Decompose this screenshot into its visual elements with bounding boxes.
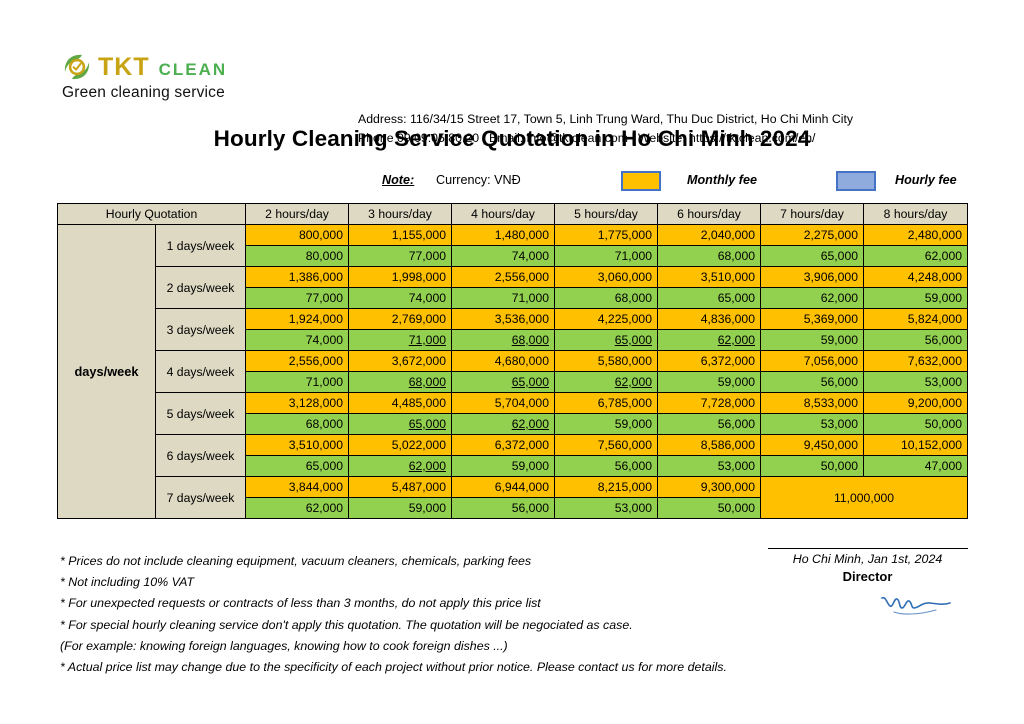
table-row: 2 days/week1,386,0001,998,0002,556,0003,…: [58, 267, 968, 288]
monthly-cell: 7,728,000: [658, 393, 761, 414]
merged-price-cell: 11,000,000: [761, 477, 968, 519]
note-legend-row: Note: Currency: VNĐ Monthly fee Hourly f…: [0, 173, 1024, 193]
hourly-cell: 62,000: [658, 330, 761, 351]
hourly-cell: 68,000: [349, 372, 452, 393]
row-label-6: 6 days/week: [156, 435, 246, 477]
hourly-cell: 80,000: [246, 246, 349, 267]
signature-rule: [768, 548, 968, 549]
column-header-3: 4 hours/day: [452, 204, 555, 225]
monthly-cell: 4,680,000: [452, 351, 555, 372]
hourly-cell: 74,000: [246, 330, 349, 351]
monthly-cell: 7,632,000: [864, 351, 968, 372]
hourly-cell: 71,000: [246, 372, 349, 393]
hourly-cell: 68,000: [555, 288, 658, 309]
table-row: 5 days/week3,128,0004,485,0005,704,0006,…: [58, 393, 968, 414]
currency-label: Currency: VNĐ: [436, 173, 521, 187]
legend-swatch-hourly: [836, 171, 876, 191]
quotation-table-wrap: Hourly Quotation 2 hours/day3 hours/day4…: [57, 203, 967, 519]
logo-text-tkt: TKT: [98, 55, 150, 80]
monthly-cell: 5,022,000: [349, 435, 452, 456]
monthly-cell: 2,769,000: [349, 309, 452, 330]
monthly-cell: 1,480,000: [452, 225, 555, 246]
footnotes-list: * Prices do not include cleaning equipme…: [60, 551, 800, 678]
hourly-cell: 62,000: [555, 372, 658, 393]
column-header-1: 2 hours/day: [246, 204, 349, 225]
monthly-cell: 9,300,000: [658, 477, 761, 498]
hourly-cell: 77,000: [246, 288, 349, 309]
row-label-1: 1 days/week: [156, 225, 246, 267]
monthly-cell: 2,275,000: [761, 225, 864, 246]
hourly-cell: 71,000: [452, 288, 555, 309]
monthly-cell: 6,785,000: [555, 393, 658, 414]
signature-block: Ho Chi Minh, Jan 1st, 2024 Director: [760, 548, 975, 584]
column-header-6: 7 hours/day: [761, 204, 864, 225]
row-label-4: 4 days/week: [156, 351, 246, 393]
hourly-cell: 71,000: [349, 330, 452, 351]
row-label-7: 7 days/week: [156, 477, 246, 519]
hourly-cell: 71,000: [555, 246, 658, 267]
footnote-6: * Actual price list may change due to th…: [60, 657, 800, 678]
row-label-5: 5 days/week: [156, 393, 246, 435]
hourly-cell: 62,000: [452, 414, 555, 435]
table-row: 6 days/week3,510,0005,022,0006,372,0007,…: [58, 435, 968, 456]
monthly-cell: 3,844,000: [246, 477, 349, 498]
hourly-cell: 56,000: [658, 414, 761, 435]
footnote-2: * Not including 10% VAT: [60, 572, 800, 593]
signature-role: Director: [760, 569, 975, 584]
hourly-cell: 65,000: [555, 330, 658, 351]
legend-label-hourly: Hourly fee: [895, 173, 957, 187]
hourly-cell: 47,000: [864, 456, 968, 477]
hourly-cell: 62,000: [349, 456, 452, 477]
monthly-cell: 2,556,000: [452, 267, 555, 288]
hourly-cell: 68,000: [658, 246, 761, 267]
monthly-cell: 10,152,000: [864, 435, 968, 456]
hourly-cell: 74,000: [452, 246, 555, 267]
column-header-7: 8 hours/day: [864, 204, 968, 225]
monthly-cell: 4,485,000: [349, 393, 452, 414]
monthly-cell: 4,225,000: [555, 309, 658, 330]
monthly-cell: 5,487,000: [349, 477, 452, 498]
monthly-cell: 3,672,000: [349, 351, 452, 372]
hourly-cell: 56,000: [555, 456, 658, 477]
hourly-cell: 56,000: [452, 498, 555, 519]
hourly-cell: 56,000: [761, 372, 864, 393]
table-row: days/week1 days/week800,0001,155,0001,48…: [58, 225, 968, 246]
monthly-cell: 3,536,000: [452, 309, 555, 330]
legend-swatch-monthly: [621, 171, 661, 191]
hourly-cell: 74,000: [349, 288, 452, 309]
monthly-cell: 8,586,000: [658, 435, 761, 456]
hourly-cell: 59,000: [452, 456, 555, 477]
hourly-cell: 59,000: [761, 330, 864, 351]
monthly-cell: 2,480,000: [864, 225, 968, 246]
hourly-cell: 59,000: [555, 414, 658, 435]
column-header-2: 3 hours/day: [349, 204, 452, 225]
monthly-cell: 4,836,000: [658, 309, 761, 330]
monthly-cell: 4,248,000: [864, 267, 968, 288]
monthly-cell: 3,060,000: [555, 267, 658, 288]
hourly-cell: 56,000: [864, 330, 968, 351]
hourly-cell: 65,000: [761, 246, 864, 267]
monthly-cell: 8,215,000: [555, 477, 658, 498]
monthly-cell: 800,000: [246, 225, 349, 246]
document-header: TKT CLEAN Green cleaning service Address…: [0, 40, 1024, 110]
monthly-cell: 5,369,000: [761, 309, 864, 330]
monthly-cell: 1,998,000: [349, 267, 452, 288]
signature-scribble-icon: [878, 588, 956, 623]
hourly-cell: 65,000: [246, 456, 349, 477]
monthly-cell: 2,556,000: [246, 351, 349, 372]
hourly-cell: 65,000: [349, 414, 452, 435]
side-group-label: days/week: [58, 225, 156, 519]
footnote-4: * For special hourly cleaning service do…: [60, 615, 800, 636]
hourly-cell: 62,000: [761, 288, 864, 309]
monthly-cell: 6,372,000: [452, 435, 555, 456]
logo-row: TKT CLEAN: [62, 52, 302, 82]
monthly-cell: 9,450,000: [761, 435, 864, 456]
monthly-cell: 7,056,000: [761, 351, 864, 372]
logo-tagline: Green cleaning service: [62, 84, 302, 102]
table-corner-label: Hourly Quotation: [58, 204, 246, 225]
hourly-cell: 53,000: [761, 414, 864, 435]
table-row: 3 days/week1,924,0002,769,0003,536,0004,…: [58, 309, 968, 330]
hourly-cell: 50,000: [864, 414, 968, 435]
monthly-cell: 1,155,000: [349, 225, 452, 246]
hourly-cell: 65,000: [658, 288, 761, 309]
hourly-cell: 53,000: [555, 498, 658, 519]
hourly-cell: 53,000: [864, 372, 968, 393]
monthly-cell: 8,533,000: [761, 393, 864, 414]
footnote-1: * Prices do not include cleaning equipme…: [60, 551, 800, 572]
hourly-cell: 59,000: [658, 372, 761, 393]
footnote-5: (For example: knowing foreign languages,…: [60, 636, 800, 657]
monthly-cell: 6,944,000: [452, 477, 555, 498]
hourly-cell: 62,000: [246, 498, 349, 519]
monthly-cell: 1,386,000: [246, 267, 349, 288]
table-row: 7 days/week3,844,0005,487,0006,944,0008,…: [58, 477, 968, 498]
column-header-4: 5 hours/day: [555, 204, 658, 225]
hourly-cell: 77,000: [349, 246, 452, 267]
monthly-cell: 1,775,000: [555, 225, 658, 246]
monthly-cell: 5,704,000: [452, 393, 555, 414]
leaf-check-icon: [62, 52, 92, 82]
monthly-cell: 2,040,000: [658, 225, 761, 246]
monthly-cell: 9,200,000: [864, 393, 968, 414]
legend-label-monthly: Monthly fee: [687, 173, 757, 187]
page-title: Hourly Cleaning Service Quotation in Ho …: [0, 126, 1024, 152]
signature-place-date: Ho Chi Minh, Jan 1st, 2024: [760, 552, 975, 566]
table-body: days/week1 days/week800,0001,155,0001,48…: [58, 225, 968, 519]
hourly-cell: 53,000: [658, 456, 761, 477]
note-label: Note:: [382, 173, 414, 187]
row-label-2: 2 days/week: [156, 267, 246, 309]
row-label-3: 3 days/week: [156, 309, 246, 351]
logo-text-clean: CLEAN: [159, 61, 228, 78]
monthly-cell: 5,580,000: [555, 351, 658, 372]
column-header-5: 6 hours/day: [658, 204, 761, 225]
hourly-cell: 62,000: [864, 246, 968, 267]
table-header-row: Hourly Quotation 2 hours/day3 hours/day4…: [58, 204, 968, 225]
monthly-cell: 6,372,000: [658, 351, 761, 372]
table-row: 4 days/week2,556,0003,672,0004,680,0005,…: [58, 351, 968, 372]
monthly-cell: 7,560,000: [555, 435, 658, 456]
footnote-3: * For unexpected requests or contracts o…: [60, 593, 800, 614]
monthly-cell: 3,510,000: [246, 435, 349, 456]
monthly-cell: 3,510,000: [658, 267, 761, 288]
monthly-cell: 3,906,000: [761, 267, 864, 288]
monthly-cell: 1,924,000: [246, 309, 349, 330]
hourly-cell: 59,000: [349, 498, 452, 519]
quotation-table: Hourly Quotation 2 hours/day3 hours/day4…: [57, 203, 968, 519]
monthly-cell: 3,128,000: [246, 393, 349, 414]
table-head: Hourly Quotation 2 hours/day3 hours/day4…: [58, 204, 968, 225]
hourly-cell: 50,000: [658, 498, 761, 519]
hourly-cell: 59,000: [864, 288, 968, 309]
monthly-cell: 5,824,000: [864, 309, 968, 330]
quotation-page: TKT CLEAN Green cleaning service Address…: [0, 0, 1024, 724]
hourly-cell: 68,000: [246, 414, 349, 435]
company-logo: TKT CLEAN Green cleaning service: [62, 52, 302, 102]
hourly-cell: 68,000: [452, 330, 555, 351]
hourly-cell: 50,000: [761, 456, 864, 477]
hourly-cell: 65,000: [452, 372, 555, 393]
